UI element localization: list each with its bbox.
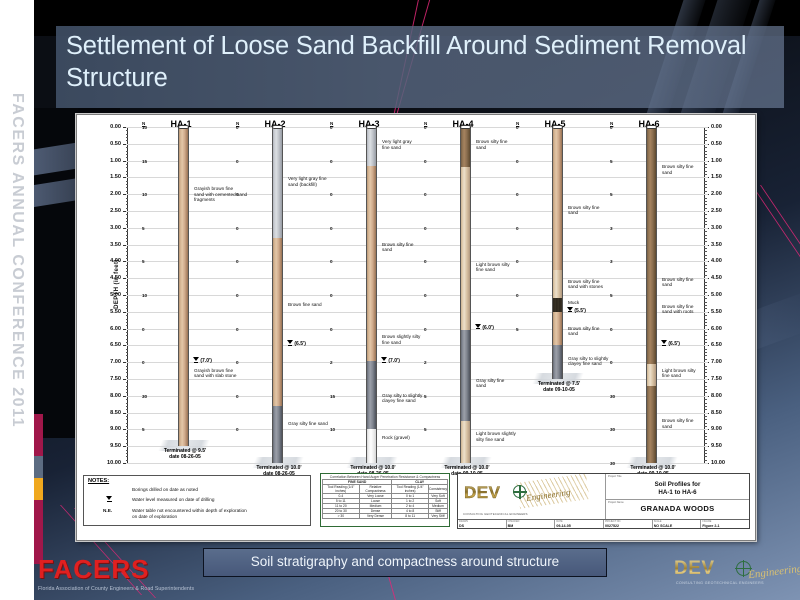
depth-minor-tick [704,319,707,320]
depth-label: 3.50 [110,242,121,248]
water-table-icon [106,496,113,503]
water-table-icon [287,340,293,346]
depth-label: 6.00 [711,326,722,332]
depth-minor-tick [704,355,707,356]
depth-minor-tick [126,214,129,215]
depth-label: 6.50 [110,342,121,348]
soil-description: Light brown slightly silty fine sand [476,431,542,442]
left-ribbon: 2011 FACERS ANNUAL CONFERENCE www.devoen… [0,0,34,600]
table-cell: > 30 [323,514,360,519]
depth-label: 4.00 [110,258,121,264]
water-table-icon [193,357,199,363]
field-value: NO SCALE [654,524,673,528]
col-consistency: Consistency [429,485,448,494]
depth-label: 6.00 [110,326,121,332]
depth-minor-tick [126,456,129,457]
depth-minor-tick [126,332,129,333]
slide-caption: Soil stratigraphy and compactness around… [203,548,607,577]
grid-line [126,446,708,447]
depth-minor-tick [126,235,129,236]
depth-minor-tick [704,436,707,437]
depth-minor-tick [126,403,129,404]
depth-minor-tick [704,443,707,444]
depth-label: 1.50 [110,174,121,180]
depth-minor-tick [126,251,129,252]
depth-minor-tick [126,208,129,209]
water-table-depth: (6.0') [482,325,493,331]
depth-minor-tick [704,389,707,390]
title-block-field: FIGUREFigure 2-1 [701,520,749,528]
blowcount-value: 0 [516,159,519,164]
depth-label: 2.00 [110,191,121,197]
soil-description: Rock (gravel) [382,435,448,441]
depth-ruler-right: 0.000.501.001.502.002.503.003.504.004.50… [704,127,744,463]
depth-minor-tick [126,292,129,293]
depth-label: 7.00 [711,359,722,365]
depth-minor-tick [126,369,129,370]
blowcount-value: 0 [516,192,519,197]
blowcount-value: 0 [330,327,333,332]
depth-label: 8.00 [711,393,722,399]
boring-cap [366,125,377,129]
soil-description: Brown silty fine sand [382,242,448,253]
field-value: 09-14-05 [556,524,570,528]
blowcount-value: 0 [236,360,239,365]
blowcount-value: 2 [330,360,333,365]
blowcount-value: 30 [610,427,615,432]
soil-description: Brown fine sand [288,302,354,308]
depth-minor-tick [704,339,707,340]
depth-minor-tick [704,416,707,417]
depth-minor-tick [126,322,129,323]
grid-line [126,463,708,464]
color-swatch-strip [34,414,43,564]
blowcount-value: 3 [610,226,613,231]
depth-label: 0.00 [110,124,121,130]
depth-label: 2.50 [711,208,722,214]
depth-minor-tick [704,231,707,232]
depth-minor-tick [704,248,707,249]
table-cell: 8 to 11 [392,514,429,519]
depth-minor-tick [126,315,129,316]
depth-minor-tick [704,456,707,457]
table-row: > 30Very Dense8 to 11Very Stiff [323,514,448,519]
depth-minor-tick [126,349,129,350]
boring-cap [178,125,189,129]
background-pink-line-4 [760,185,800,305]
depth-ruler-left: 0.000.501.001.502.002.503.003.504.004.50… [88,127,128,463]
blowcount-value: 0 [424,192,427,197]
devo-logo-bottom: DEV Engineering CONSULTING GEOTECHNICAL … [674,556,790,592]
depth-minor-tick [704,302,707,303]
depth-label: 0.50 [711,141,722,147]
field-caption: PROJECT NO. [605,520,621,523]
depth-minor-tick [704,154,707,155]
blowcount-value: 2 [424,360,427,365]
depth-minor-tick [704,332,707,333]
depth-minor-tick [126,174,129,175]
soil-description: Brown silty fine sand [568,326,634,337]
depth-minor-tick [704,255,707,256]
depth-minor-tick [704,386,707,387]
depth-minor-tick [704,409,707,410]
site-name-value: GRANADA WOODS [606,505,749,513]
depth-minor-tick [126,151,129,152]
depth-minor-tick [126,339,129,340]
depth-minor-tick [704,208,707,209]
depth-minor-tick [704,352,707,353]
soil-description: Grayish brown fine sand with cemented sa… [194,186,260,203]
depth-minor-tick [126,157,129,158]
blowcount-value: 0 [610,327,613,332]
soil-description: Light brown silty fine sand [662,368,728,379]
blowcount-value: 5 [610,192,613,197]
depth-minor-tick [704,271,707,272]
blowcount-value: 0 [236,394,239,399]
devo-wordmark: DEV [464,483,500,503]
blowcount-value: 0 [424,293,427,298]
blowcount-value: 10 [142,125,147,130]
depth-minor-tick [704,399,707,400]
blowcount-value: 5 [516,327,519,332]
depth-minor-tick [126,147,129,148]
blowcount-value: 0 [424,226,427,231]
table-cell: Very Stiff [429,514,448,519]
boring-outline [272,127,283,463]
boring-outline [366,127,377,463]
depth-minor-tick [126,171,129,172]
soil-description: Brown slightly silty fine sand [382,334,448,345]
compactness-table-body: 0-4Very Loose0 to 1Very Soft5 to 11Loose… [323,494,448,519]
depth-minor-tick [704,292,707,293]
depth-label: 3.00 [110,225,121,231]
depth-label: 0.00 [711,124,722,130]
field-value: Figure 2-1 [702,524,719,528]
depth-minor-tick [704,288,707,289]
depth-label: 9.50 [110,443,121,449]
blowcount-value: 0 [424,259,427,264]
compactness-column-row: Tool Reading (1/4" inches) Relative Comp… [323,485,448,494]
blowcount-value: 0 [330,259,333,264]
depth-minor-tick [126,453,129,454]
depth-minor-tick [126,406,129,407]
depth-minor-tick [126,319,129,320]
blowcount-value: 0 [610,360,613,365]
swatch-3 [34,478,43,500]
depth-minor-tick [704,137,707,138]
depth-minor-tick [126,258,129,259]
col-tool-reading-sand: Tool Reading (1/4" inches) [323,485,360,494]
blowcount-value: 0 [424,125,427,130]
depth-minor-tick [126,218,129,219]
boring-column-ha-3: HA-3N000000021510 (7.0')Very light gray … [366,119,367,471]
depth-minor-tick [704,187,707,188]
water-table-marker: (6.5') [661,340,680,347]
water-table-depth: (6.5') [668,341,679,347]
grid-line [126,295,708,296]
depth-minor-tick [126,154,129,155]
depth-minor-tick [126,376,129,377]
project-title-value: Soil Profiles for HA-1 to HA-6 [606,481,749,496]
water-table-depth: (7.0') [200,358,211,364]
depth-minor-tick [126,137,129,138]
depth-minor-tick [126,386,129,387]
blowcount-value: 0 [236,327,239,332]
blowcount-value: 0 [424,159,427,164]
title-block-field: DRAWNDS [458,520,507,528]
depth-label: 4.50 [110,275,121,281]
site-caption: Project Name [608,501,624,504]
water-table-icon [475,324,481,330]
depth-minor-tick [126,443,129,444]
note-text-1: Borings drilled on date as noted [132,487,198,493]
blowcount-value: 0 [236,125,239,130]
devo-subtitle: CONSULTING GEOTECHNICAL ENGINEERS [463,512,528,516]
col-relative-compactness: Relative Compactness [359,485,392,494]
depth-minor-tick [126,305,129,306]
website-ribbon-text-wrap: www.devoeng.com [0,425,34,600]
depth-label: 8.50 [110,410,121,416]
termination-label: Terminated @ 7.5' date 09-10-05 [524,381,594,393]
soil-description: Brown silty fine sand with roots [662,304,728,315]
boring-column-ha-5: HA-5N0000005 (5.5')Brown silty fine sand… [552,119,553,471]
col-tool-reading-clay: Tool Reading (1/4" inches) [392,485,429,494]
depth-label: 5.50 [110,309,121,315]
depth-minor-tick [126,439,129,440]
title-block-top: DEV Engineering CONSULTING GEOTECHNICAL … [458,474,749,519]
depth-minor-tick [704,335,707,336]
depth-minor-tick [704,366,707,367]
depth-minor-tick [704,130,707,131]
field-value: DS [459,524,464,528]
boring-outline [552,127,563,379]
depth-label: 2.50 [110,208,121,214]
field-value: BM [508,524,514,528]
blowcount-value: 0 [236,159,239,164]
water-table-depth: (5.5') [574,308,585,314]
depth-minor-tick [126,372,129,373]
compactness-table-caption: Correlation Between Hand Auger Penetrati… [322,475,448,479]
facers-tagline: Florida Association of County Engineers … [38,586,228,592]
water-table-marker: (5.5') [567,307,586,314]
depth-minor-tick [126,285,129,286]
depth-minor-tick [126,134,129,135]
grid-line [126,379,708,380]
water-table-marker: (7.0') [193,357,212,364]
depth-minor-tick [126,191,129,192]
blowcount-value: 5 [142,427,145,432]
blowcount-value: 15 [330,394,335,399]
title-block-field: SCALENO SCALE [653,520,702,528]
depth-minor-tick [126,325,129,326]
drawing-title-block: DEV Engineering CONSULTING GEOTECHNICAL … [457,473,750,529]
devo-logo-titleblock: DEV Engineering CONSULTING GEOTECHNICAL … [458,474,606,519]
blowcount-value: 30 [610,461,615,466]
depth-label: 10.00 [711,460,725,466]
blowcount-value: 0 [330,293,333,298]
depth-minor-tick [126,238,129,239]
field-caption: SCALE [654,520,662,523]
depth-minor-tick [704,140,707,141]
depth-minor-tick [704,157,707,158]
depth-minor-tick [126,450,129,451]
notes-header: NOTES: [88,478,109,484]
depth-label: 0.50 [110,141,121,147]
grid-line [126,413,708,414]
depth-label: 5.00 [110,292,121,298]
depth-minor-tick [126,302,129,303]
depth-minor-tick [126,389,129,390]
title-block-fields: DRAWNDSCHECKEDBMDATE09-14-05PROJECT NO.0… [458,519,749,528]
depth-label: 7.00 [110,359,121,365]
depth-minor-tick [126,426,129,427]
boring-cap [552,125,563,129]
depth-label: 1.00 [711,158,722,164]
depth-minor-tick [126,265,129,266]
blowcount-value: 0 [142,327,145,332]
depth-minor-tick [126,231,129,232]
blowcount-value: 5 [424,394,427,399]
depth-minor-tick [126,184,129,185]
depth-minor-tick [126,335,129,336]
depth-minor-tick [704,184,707,185]
depth-minor-tick [704,147,707,148]
soil-description: Brown silty fine sand [476,139,542,150]
devo-globe-icon [513,485,526,498]
depth-label: 5.00 [711,292,722,298]
blowcount-value: 30 [142,394,147,399]
depth-minor-tick [126,433,129,434]
blowcount-value: 0 [236,259,239,264]
facers-wordmark: FACERS [38,554,228,585]
termination-label: Terminated @ 9.5' date 08-26-05 [150,448,220,460]
blowcount-value: 0 [516,259,519,264]
depth-minor-tick [126,241,129,242]
boring-cap [272,125,283,129]
title-block-field: DATE09-14-05 [555,520,604,528]
depth-minor-tick [126,187,129,188]
depth-minor-tick [704,359,707,360]
depth-minor-tick [704,191,707,192]
water-table-depth: (6.5') [294,341,305,347]
field-caption: CHECKED [508,520,520,523]
depth-minor-tick [126,271,129,272]
boring-column-ha-4: HA-4N0000000255 (6.0')Brown silty fine s… [460,119,461,471]
blowcount-value: 0 [610,125,613,130]
depth-minor-tick [704,342,707,343]
depth-minor-tick [126,382,129,383]
soil-description: Grayish brown fine sand with slab stone [194,368,260,379]
compactness-table: FINE SAND CLAY Tool Reading (1/4" inches… [322,479,448,519]
depth-minor-tick [126,140,129,141]
blowcount-value: 0 [330,192,333,197]
note-text-3: Water table not encountered within depth… [132,508,247,519]
depth-minor-tick [126,164,129,165]
depth-label: 8.00 [110,393,121,399]
depth-label: 4.00 [711,258,722,264]
boring-cap [460,125,471,129]
boring-cap [646,125,657,129]
depth-minor-tick [126,255,129,256]
conference-ribbon-text-wrap: 2011 FACERS ANNUAL CONFERENCE [0,0,34,430]
title-block-field: PROJECT NO.0027522 [604,520,653,528]
soil-description: Brown silty fine sand [568,205,634,216]
grid-line [126,312,708,313]
blowcount-value: 0 [516,226,519,231]
depth-minor-tick [126,181,129,182]
depth-minor-tick [704,453,707,454]
depth-label: 9.50 [711,443,722,449]
grid-line [126,228,708,229]
depth-minor-tick [126,392,129,393]
project-caption: Project Title [608,475,622,478]
depth-minor-tick [704,275,707,276]
depth-minor-tick [704,460,707,461]
depth-minor-tick [126,419,129,420]
title-block-right: Project Title Soil Profiles for HA-1 to … [606,474,749,519]
blowcount-value: 3 [610,259,613,264]
blowcount-value: 5 [424,427,427,432]
depth-minor-tick [704,265,707,266]
depth-minor-tick [126,436,129,437]
depth-minor-tick [126,130,129,131]
soil-description: Brown silty fine sand [662,164,728,175]
soil-description: Gray silty to slightly clayey fine sand [382,393,448,404]
soil-profile-plot: DEPTH (in feet) 0.000.501.001.502.002.50… [82,119,752,471]
depth-minor-tick [126,352,129,353]
depth-minor-tick [704,235,707,236]
soil-description: Very light gray fine sand [382,139,448,150]
boring-outline [460,127,471,463]
depth-minor-tick [704,322,707,323]
water-table-icon [661,340,667,346]
field-value: 0027522 [605,524,619,528]
depth-minor-tick [704,406,707,407]
depth-minor-tick [704,258,707,259]
depth-minor-tick [704,198,707,199]
depth-label: 6.50 [711,342,722,348]
depth-label: 10.00 [107,460,121,466]
depth-label: 1.00 [110,158,121,164]
depth-label: 7.50 [110,376,121,382]
blowcount-value: 0 [424,327,427,332]
field-caption: DRAWN [459,520,468,523]
grid-line [126,261,708,262]
depth-minor-tick [704,325,707,326]
boring-outline [178,127,189,446]
depth-minor-tick [126,298,129,299]
depth-minor-tick [704,315,707,316]
swatch-1 [34,414,43,456]
title-block-site: Project Name GRANADA WOODS [606,500,749,519]
blowcount-value: 0 [236,293,239,298]
soil-description: Brown silty fine sand [662,277,728,288]
blowcount-value: 10 [142,192,147,197]
devo-bottom-wordmark: DEV [674,558,715,580]
water-table-marker: (6.0') [475,324,494,331]
depth-minor-tick [126,268,129,269]
devo-bottom-subtitle: CONSULTING GEOTECHNICAL ENGINEERS [676,581,764,585]
blowcount-value: 0 [236,427,239,432]
depth-label: 3.50 [711,242,722,248]
grid-line [126,161,708,162]
note-text-2: Water level measured on date of drilling [132,497,214,503]
drawing-sheet: DEPTH (in feet) 0.000.501.001.502.002.50… [76,114,756,541]
depth-minor-tick [126,423,129,424]
depth-label: 9.00 [110,426,121,432]
depth-label: 2.00 [711,191,722,197]
depth-minor-tick [126,167,129,168]
